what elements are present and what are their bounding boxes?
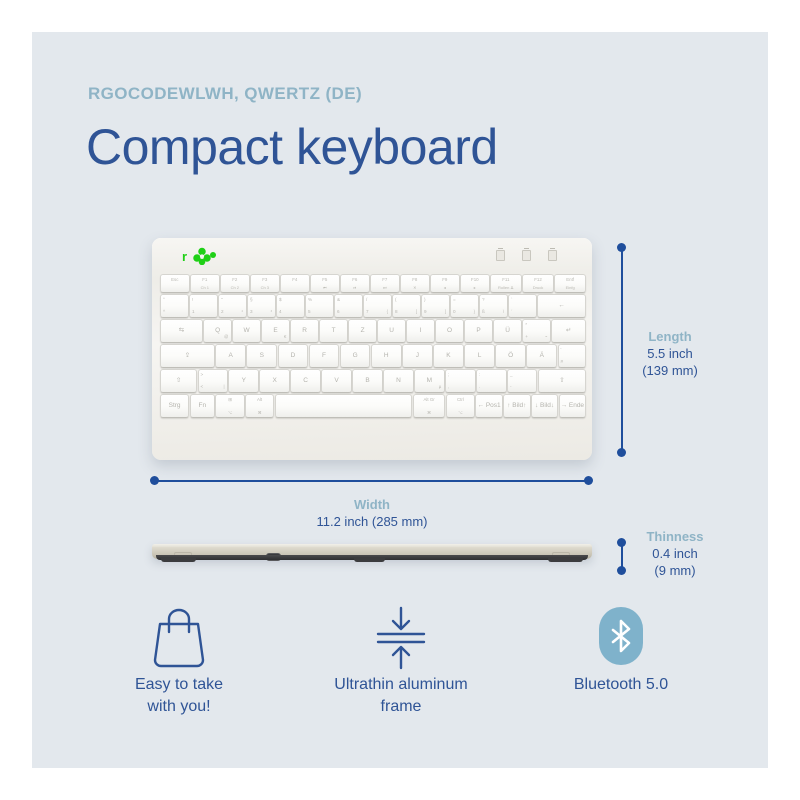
feature-ultrathin-caption: Ultrathin aluminum frame — [301, 674, 501, 717]
key[interactable]: F1Ch 1 — [190, 274, 220, 293]
feature-ultrathin-line2: frame — [301, 696, 501, 718]
key[interactable]: E€ — [261, 319, 290, 343]
key[interactable]: F2Ch 2 — [220, 274, 250, 293]
key[interactable]: S — [246, 344, 277, 368]
width-endpoint-right — [584, 476, 593, 485]
thinness-value-metric: (9 mm) — [600, 562, 750, 579]
thinness-value-imperial: 0.4 inch — [600, 545, 750, 562]
key[interactable]: )9] — [421, 294, 450, 318]
key[interactable]: Z — [348, 319, 377, 343]
width-measure-line — [156, 480, 588, 482]
key[interactable]: ↑ Bild↑ — [503, 394, 530, 418]
keyboard-side-view — [152, 538, 592, 568]
key[interactable]: I — [406, 319, 435, 343]
width-value: 11.2 inch (285 mm) — [272, 513, 472, 530]
key[interactable]: F9◂ — [430, 274, 460, 293]
key[interactable]: Q@ — [203, 319, 232, 343]
key[interactable]: A — [215, 344, 246, 368]
key[interactable]: O — [435, 319, 464, 343]
key[interactable]: T — [319, 319, 348, 343]
key[interactable]: N — [383, 369, 414, 393]
keyboard-top-view: r EscF1Ch 1F2Ch 2F3Ch 3F4F5⏮F6⏯F7⏭F8✕F9◂… — [152, 238, 592, 460]
key[interactable]: V — [321, 369, 352, 393]
feature-ultrathin: Ultrathin aluminum frame — [301, 598, 501, 717]
key[interactable]: EntfEinfg — [554, 274, 586, 293]
keyboard-row-function-row: EscF1Ch 1F2Ch 2F3Ch 3F4F5⏮F6⏯F7⏭F8✕F9◂F1… — [160, 274, 584, 291]
feature-portability-line2: with you! — [79, 696, 279, 718]
frame-top-edge — [152, 544, 592, 547]
width-label: Width 11.2 inch (285 mm) — [272, 496, 472, 530]
bluetooth-icon — [599, 607, 643, 665]
key[interactable]: F12Druck — [522, 274, 554, 293]
key[interactable]: ← — [537, 294, 586, 318]
key[interactable]: Ä — [526, 344, 557, 368]
key[interactable]: ;, — [445, 369, 476, 393]
key[interactable]: F — [309, 344, 340, 368]
key[interactable]: Esc — [160, 274, 190, 293]
bluetooth-icon-wrap — [521, 598, 721, 674]
key[interactable]: ⊞⌥ — [215, 394, 244, 418]
page-title: Compact keyboard — [86, 118, 498, 176]
thinness-caption: Thinness — [600, 528, 750, 545]
key[interactable]: ?ß\ — [479, 294, 508, 318]
key[interactable]: Alt⌘ — [245, 394, 274, 418]
width-caption: Width — [272, 496, 472, 513]
key[interactable]: ⇪ — [160, 344, 215, 368]
key[interactable]: F5⏮ — [310, 274, 340, 293]
rubber-foot-right — [548, 557, 583, 562]
key[interactable]: H — [371, 344, 402, 368]
length-caption: Length — [600, 328, 740, 345]
key[interactable]: K — [433, 344, 464, 368]
key[interactable]: F4 — [280, 274, 310, 293]
key[interactable]: R — [290, 319, 319, 343]
keyboard-row-number-row: °^!1"2²§3³$4%5&6/7{(8[)9]=0}?ß\`´← — [160, 294, 584, 316]
shopping-bag-icon — [79, 598, 279, 674]
key[interactable]: J — [402, 344, 433, 368]
key[interactable]: %5 — [305, 294, 334, 318]
key[interactable]: _- — [507, 369, 538, 393]
key[interactable]: &6 — [334, 294, 363, 318]
key[interactable]: °^ — [160, 294, 189, 318]
battery-led — [548, 250, 557, 261]
key[interactable] — [275, 394, 413, 418]
key[interactable]: L — [464, 344, 495, 368]
key[interactable]: Ctrl⌥ — [446, 394, 475, 418]
feature-ultrathin-line1: Ultrathin aluminum — [301, 674, 501, 696]
key[interactable]: B — [352, 369, 383, 393]
key[interactable]: Fn — [190, 394, 216, 418]
key[interactable]: (8[ — [392, 294, 421, 318]
svg-text:r: r — [182, 249, 187, 264]
width-endpoint-left — [150, 476, 159, 485]
key[interactable]: $4 — [276, 294, 305, 318]
key[interactable]: =0} — [450, 294, 479, 318]
key[interactable]: F10▸ — [460, 274, 490, 293]
infographic-canvas: RGOCODEWLWH, QWERTZ (DE) Compact keyboar… — [0, 0, 800, 800]
product-code-subtitle: RGOCODEWLWH, QWERTZ (DE) — [88, 84, 362, 104]
key[interactable]: "2² — [218, 294, 247, 318]
key[interactable]: ⇆ — [160, 319, 203, 343]
key[interactable]: Ü — [493, 319, 522, 343]
key[interactable]: P — [464, 319, 493, 343]
rubber-foot-middle — [354, 557, 385, 562]
key[interactable]: → Ende — [559, 394, 586, 418]
feature-portability: Easy to take with you! — [79, 598, 279, 717]
key[interactable]: F8✕ — [400, 274, 430, 293]
key[interactable]: ← Pos1 — [475, 394, 502, 418]
keyboard-row-home-row: ⇪ASDFGHJKLÖÄ'# — [160, 344, 584, 366]
key[interactable]: :. — [476, 369, 507, 393]
key[interactable]: *+~ — [522, 319, 551, 343]
key[interactable]: ⇧ — [160, 369, 197, 393]
length-value-imperial: 5.5 inch — [600, 345, 740, 362]
key[interactable]: F11Rollen ⇊ — [490, 274, 522, 293]
key[interactable]: Mµ — [414, 369, 445, 393]
key[interactable]: C — [290, 369, 321, 393]
key[interactable]: D — [278, 344, 309, 368]
caps-lock-led — [496, 250, 505, 261]
key[interactable]: X — [259, 369, 290, 393]
key[interactable]: ⇧ — [538, 369, 586, 393]
key[interactable]: ↵ — [551, 319, 586, 343]
length-endpoint-top — [617, 243, 626, 252]
keyboard-row-qwertz-row: ⇆Q@WE€RTZUIOPÜ*+~↵ — [160, 319, 584, 341]
key[interactable]: Ö — [495, 344, 526, 368]
key[interactable]: U — [377, 319, 406, 343]
feature-bluetooth-caption: Bluetooth 5.0 — [521, 674, 721, 696]
key[interactable]: §3³ — [247, 294, 276, 318]
thickness-arrows-icon — [301, 598, 501, 674]
thinness-label: Thinness 0.4 inch (9 mm) — [600, 528, 750, 579]
num-lock-led — [522, 250, 531, 261]
keyboard-row-bottom-row: StrgFn⊞⌥Alt⌘Alt Gr⌘Ctrl⌥← Pos1↑ Bild↑↓ B… — [160, 394, 584, 416]
key-matrix: EscF1Ch 1F2Ch 2F3Ch 3F4F5⏮F6⏯F7⏭F8✕F9◂F1… — [160, 274, 584, 450]
keyboard-row-shift-row: ⇧><|YXCVBNMµ;,:._-⇧ — [160, 369, 584, 391]
key[interactable]: Y — [228, 369, 259, 393]
length-label: Length 5.5 inch (139 mm) — [600, 328, 740, 379]
key[interactable]: Strg — [160, 394, 189, 418]
key[interactable]: G — [340, 344, 371, 368]
rubber-foot-left — [161, 557, 196, 562]
key[interactable]: '# — [558, 344, 586, 368]
key[interactable]: ><| — [198, 369, 229, 393]
length-endpoint-bottom — [617, 448, 626, 457]
feature-bluetooth: Bluetooth 5.0 — [521, 598, 721, 696]
feature-portability-caption: Easy to take with you! — [79, 674, 279, 717]
indicator-leds — [496, 250, 566, 262]
key[interactable]: W — [232, 319, 261, 343]
key[interactable]: F7⏭ — [370, 274, 400, 293]
rgo-logo: r — [182, 247, 222, 265]
key[interactable]: F3Ch 3 — [250, 274, 280, 293]
feature-bluetooth-line1: Bluetooth 5.0 — [521, 674, 721, 696]
key[interactable]: !1 — [189, 294, 218, 318]
key[interactable]: `´ — [508, 294, 537, 318]
key[interactable]: F6⏯ — [340, 274, 370, 293]
key[interactable]: ↓ Bild↓ — [531, 394, 558, 418]
feature-portability-line1: Easy to take — [79, 674, 279, 696]
key[interactable]: /7{ — [363, 294, 392, 318]
key[interactable]: Alt Gr⌘ — [413, 394, 446, 418]
length-value-metric: (139 mm) — [600, 362, 740, 379]
